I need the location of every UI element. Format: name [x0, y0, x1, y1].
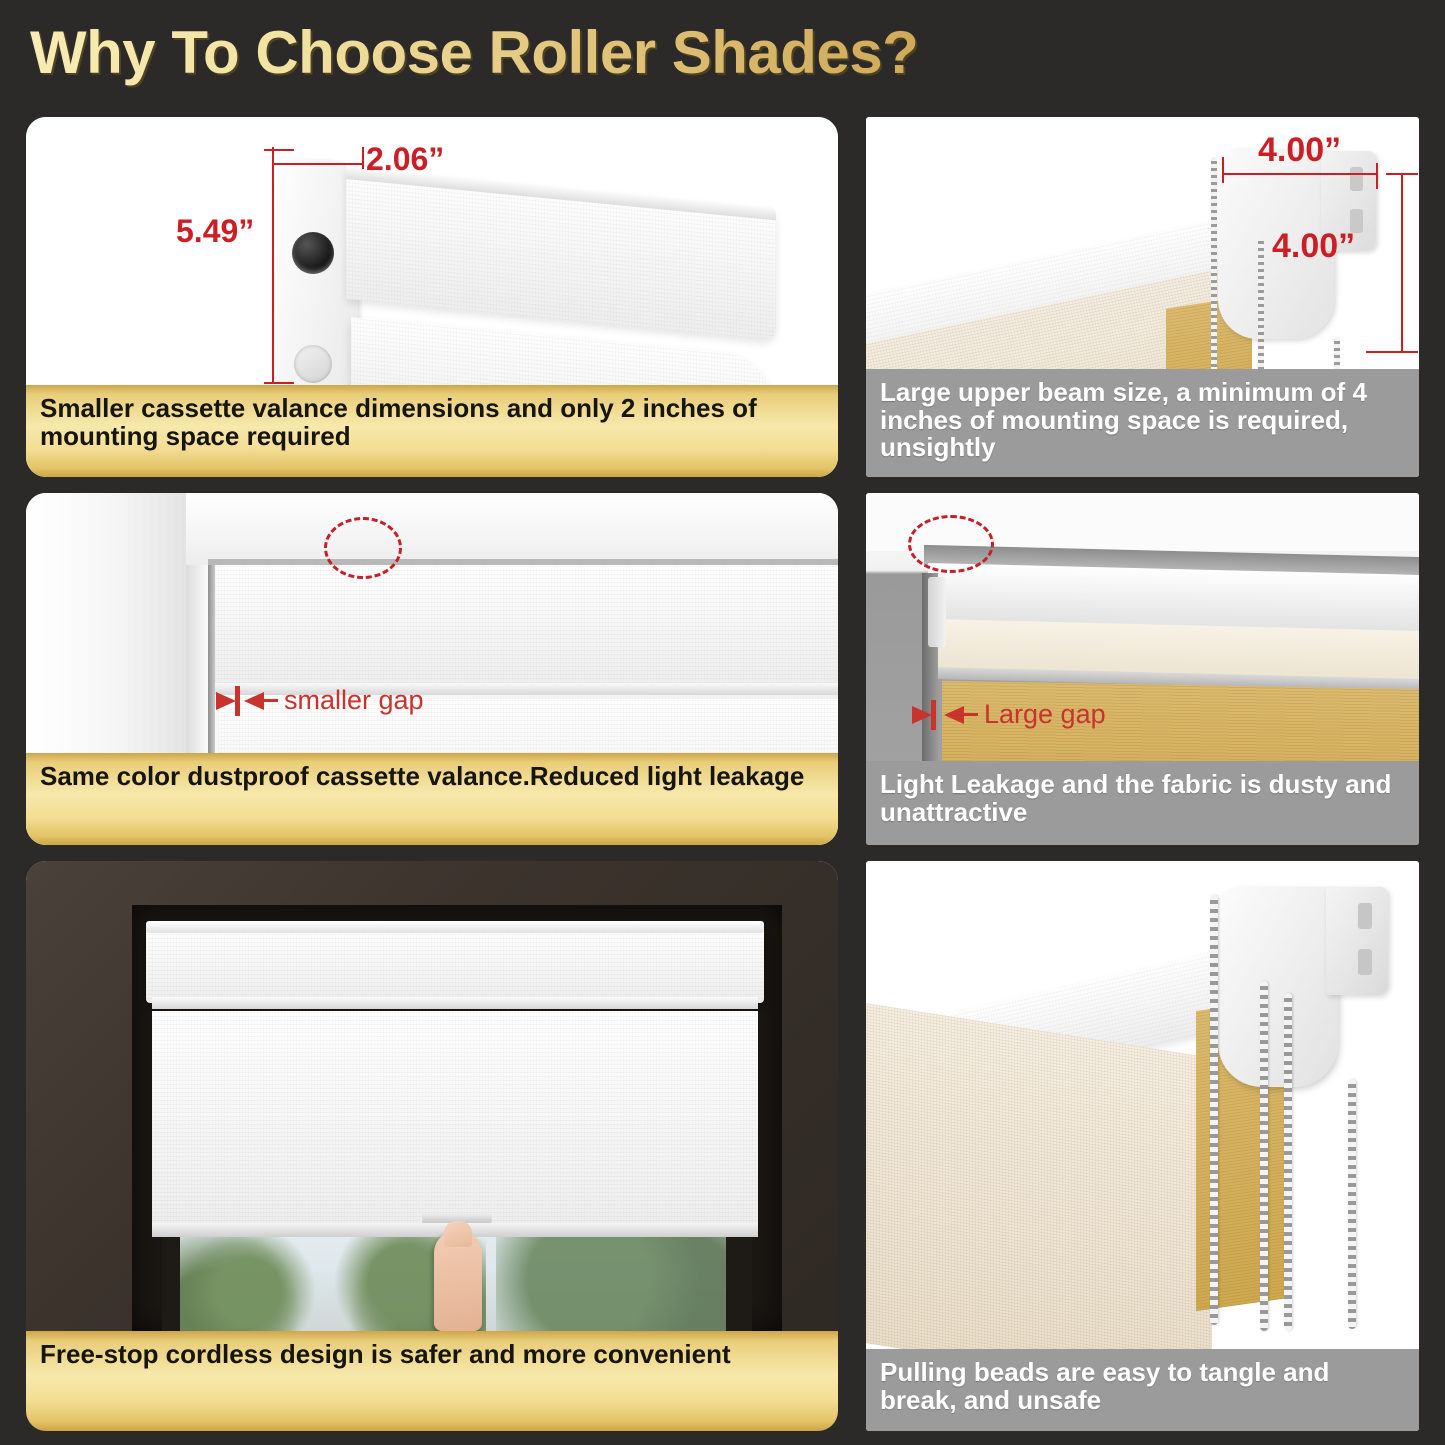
large-bracket	[1218, 887, 1338, 1087]
infographic-root: Why To Choose Roller Shades?	[0, 0, 1445, 1445]
bead-chain-1	[1210, 895, 1218, 1325]
panel-caption: Same color dustproof cassette valance.Re…	[26, 753, 838, 845]
fingers	[444, 1221, 472, 1247]
bead-chain-3	[1284, 993, 1292, 1331]
valance-top-cap	[146, 921, 764, 933]
panel-large-beam: 4.00” 4.00” Large upper beam size, a min…	[866, 117, 1419, 477]
height-dimension-label: 5.49”	[176, 213, 254, 250]
window-head-casing	[186, 493, 838, 565]
comparison-grid: 5.49” 2.06” Smaller cassette valance dim…	[0, 105, 1445, 1445]
panel-caption: Smaller cassette valance dimensions and …	[26, 385, 838, 477]
panel-caption: Light Leakage and the fabric is dusty an…	[866, 761, 1419, 845]
panel-caption: Pulling beads are easy to tangle and bre…	[866, 1349, 1419, 1431]
gap-annotation: Large gap	[912, 699, 1106, 730]
panel-dustproof-valance: smaller gap Same color dustproof cassett…	[26, 493, 838, 845]
width-dim-line	[272, 163, 364, 165]
gap-label: Large gap	[984, 699, 1106, 730]
beam-height-dim-line	[1401, 173, 1403, 353]
gap-arrow-right-icon	[912, 706, 932, 724]
page-header: Why To Choose Roller Shades?	[0, 0, 1445, 105]
panel-caption: Large upper beam size, a minimum of 4 in…	[866, 369, 1419, 477]
exposed-bracket	[928, 577, 946, 647]
cordless-valance	[146, 927, 764, 1003]
beam-width-dim-line	[1222, 173, 1378, 175]
beam-height-tick-top	[1386, 173, 1418, 175]
panel-smaller-cassette: 5.49” 2.06” Smaller cassette valance dim…	[26, 117, 838, 477]
bead-chain-2	[1260, 981, 1268, 1331]
page-title: Why To Choose Roller Shades?	[30, 18, 918, 87]
beam-height-tick-bottom	[1366, 351, 1418, 353]
gap-arrow-left-icon	[244, 692, 264, 710]
height-dim-line	[272, 149, 274, 384]
beam-width-tick-left	[1222, 157, 1224, 183]
gap-label: smaller gap	[284, 685, 424, 716]
gap-arrow-tail	[964, 713, 978, 716]
bead-chain-4	[1348, 1079, 1356, 1329]
gap-annotation: smaller gap	[216, 685, 424, 716]
detail-highlight-ellipse	[908, 515, 994, 573]
tree-left	[174, 1233, 324, 1331]
bracket-wall-plate	[1326, 887, 1388, 995]
photo-bead-chain-shade	[866, 861, 1419, 1431]
cordless-shade-fabric	[152, 1011, 758, 1233]
beam-height-label: 4.00”	[1272, 227, 1355, 266]
bracket-slot-upper	[1350, 167, 1363, 191]
bracket-socket	[292, 232, 334, 274]
width-dim-tick-right	[362, 147, 364, 169]
detail-highlight-ellipse	[324, 517, 402, 579]
gap-marker-bar	[235, 686, 240, 716]
width-dim-tick-left	[272, 147, 274, 169]
gap-arrow-right-icon	[216, 692, 236, 710]
beam-width-tick-right	[1376, 163, 1378, 189]
beam-width-label: 4.00”	[1258, 131, 1341, 170]
bracket-slot-upper	[1358, 903, 1372, 929]
gap-marker-bar	[931, 700, 936, 730]
height-dim-tick-bottom	[264, 382, 294, 384]
gap-arrow-left-icon	[944, 706, 964, 724]
panel-light-leakage: Large gap Light Leakage and the fabric i…	[866, 493, 1419, 845]
gap-arrow-tail	[264, 699, 278, 702]
height-dim-tick-top	[264, 149, 294, 151]
valance-lip	[152, 997, 758, 1009]
bracket-slot-lower	[1358, 949, 1372, 975]
shade-fabric-front	[866, 999, 1212, 1398]
bracket-pin	[294, 345, 332, 383]
cassette-valance	[212, 565, 838, 687]
panel-pulling-beads: Pulling beads are easy to tangle and bre…	[866, 861, 1419, 1431]
width-dimension-label: 2.06”	[366, 141, 444, 178]
panel-caption: Free-stop cordless design is safer and m…	[26, 1331, 838, 1431]
panel-cordless-design: Free-stop cordless design is safer and m…	[26, 861, 838, 1431]
